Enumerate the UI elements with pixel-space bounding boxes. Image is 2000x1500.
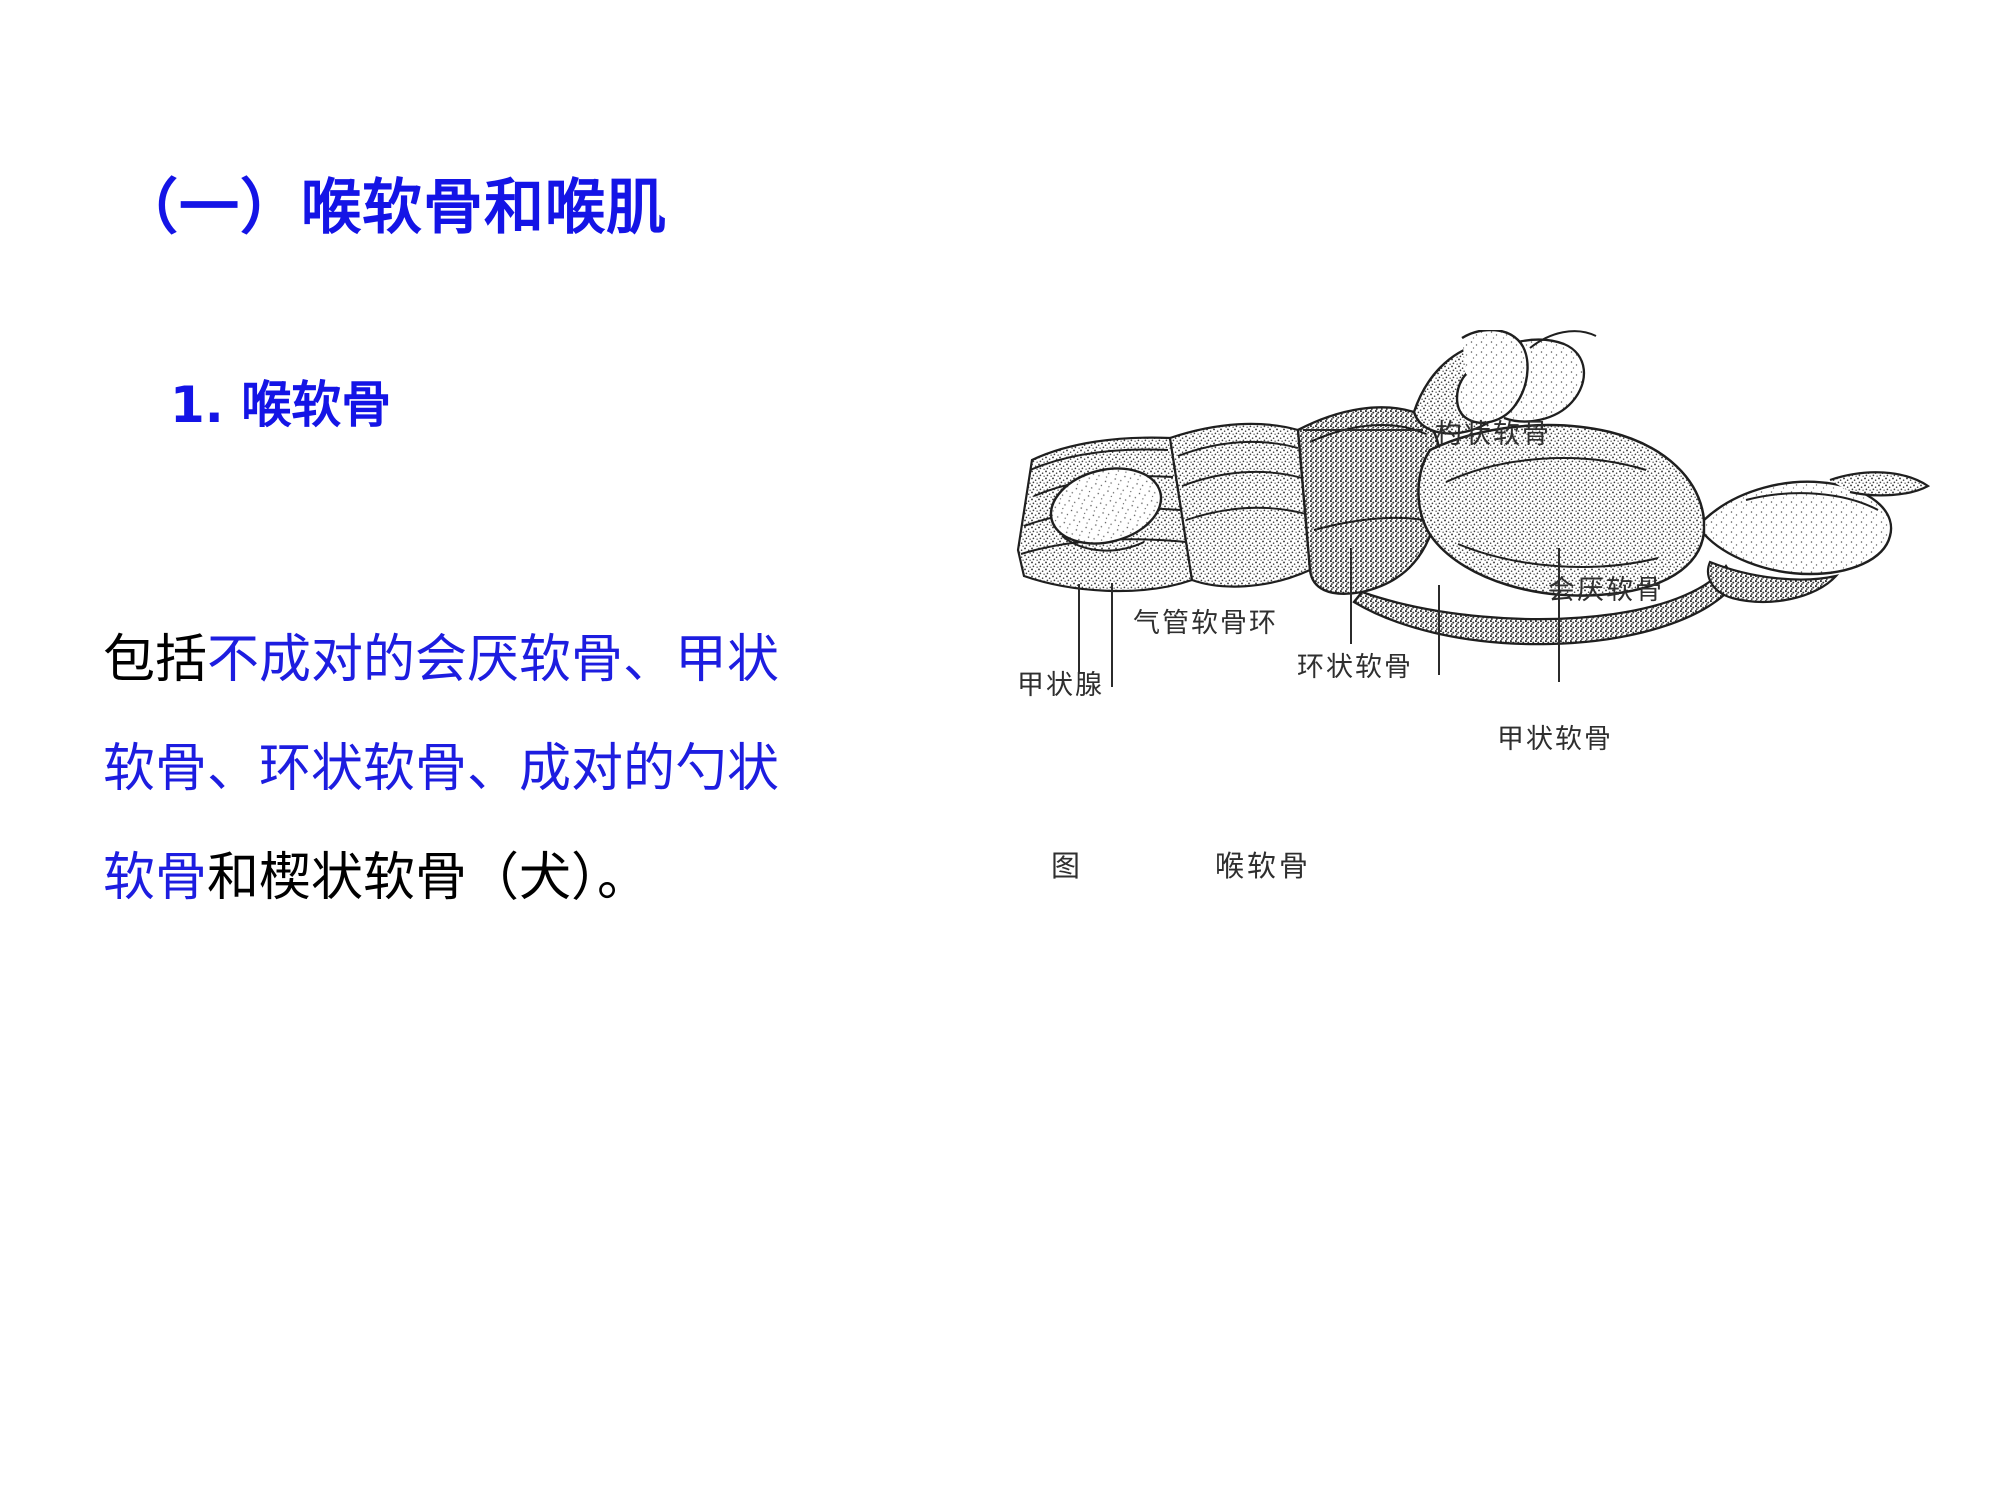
figure-label-epiglottic-cartilage: 会厌软骨 [1548,568,1664,607]
section-subtitle: 1. 喉软骨 [170,378,391,433]
leader-line-thyroid-cartilage [1558,548,1560,682]
body-text-plain-lead: 包括 [103,630,207,690]
body-text-plain-tail: 和楔状软骨（犬）。 [207,848,649,908]
body-paragraph: 包括不成对的会厌软骨、甲状软骨、环状软骨、成对的勺状软骨和楔状软骨（犬）。 [103,606,803,933]
leader-line-thyroid-gland [1078,584,1080,674]
leader-line-cricoid [1350,548,1352,644]
figure-caption-word: 图 [1051,843,1083,885]
figure-label-cricoid-cartilage: 环状软骨 [1297,645,1413,684]
larynx-illustration-svg [1010,330,1940,750]
leader-line-arytenoid [1303,429,1423,431]
larynx-cartilage-figure: 杓状软骨 环状软骨 会厌软骨 甲状软骨 气管软骨环 甲状腺 图 喉软骨 [1010,330,1940,930]
leader-line-tracheal-ring [1111,583,1113,687]
figure-label-thyroid-gland: 甲状腺 [1017,663,1104,702]
page-title: （一）喉软骨和喉肌 [118,175,667,241]
figure-caption-title: 喉软骨 [1215,843,1311,885]
figure-label-tracheal-cartilage-ring: 气管软骨环 [1133,601,1278,640]
larynx-illustration [1010,330,1940,750]
figure-label-arytenoid-cartilage: 杓状软骨 [1435,412,1551,451]
slide-canvas: （一）喉软骨和喉肌 1. 喉软骨 包括不成对的会厌软骨、甲状软骨、环状软骨、成对… [0,0,2000,1500]
figure-label-thyroid-cartilage: 甲状软骨 [1497,717,1613,756]
leader-line-epiglottic [1438,585,1440,675]
